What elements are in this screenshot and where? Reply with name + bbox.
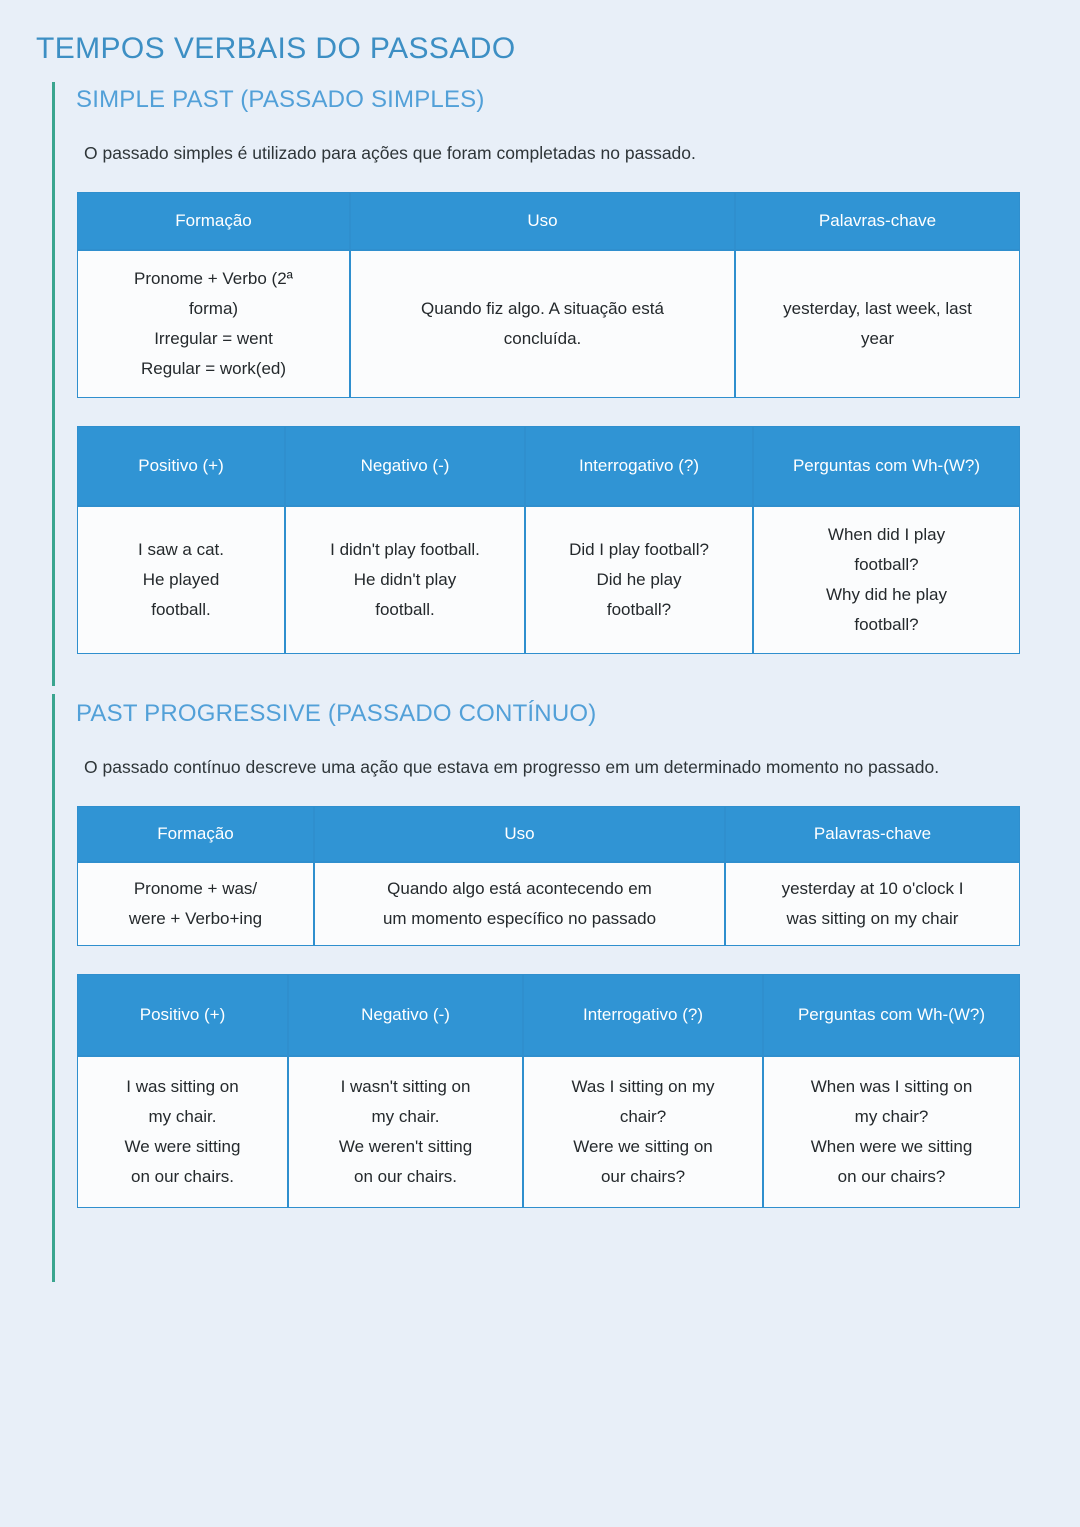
document-page: TEMPOS VERBAIS DO PASSADO SIMPLE PAST (P… <box>0 0 1080 1527</box>
cell-line: We were sitting <box>86 1132 279 1162</box>
cell-line: Pronome + Verbo (2ª <box>86 264 341 294</box>
table-row: I saw a cat. He played football. I didn'… <box>77 506 1020 654</box>
cell-perguntas-wh: When was I sitting on my chair? When wer… <box>763 1056 1020 1208</box>
cell-uso: Quando fiz algo. A situação está concluí… <box>350 250 735 398</box>
cell-line: football? <box>762 610 1011 640</box>
cell-line: were + Verbo+ing <box>86 904 305 934</box>
cell-line: Irregular = went <box>86 324 341 354</box>
column-header-negativo: Negativo (-) <box>285 426 525 506</box>
section-heading-past-progressive: PAST PROGRESSIVE (PASSADO CONTÍNUO) <box>76 700 1044 728</box>
table-header-row: Positivo (+) Negativo (-) Interrogativo … <box>77 426 1020 506</box>
cell-line: I didn't play football. <box>294 535 516 565</box>
cell-positivo: I saw a cat. He played football. <box>77 506 285 654</box>
cell-line: When were we sitting <box>772 1132 1011 1162</box>
column-header-formacao: Formação <box>77 806 314 862</box>
table-header-row: Positivo (+) Negativo (-) Interrogativo … <box>77 974 1020 1056</box>
section-simple-past: SIMPLE PAST (PASSADO SIMPLES) O passado … <box>76 86 1044 654</box>
column-header-uso: Uso <box>350 192 735 250</box>
column-header-formacao: Formação <box>77 192 350 250</box>
cell-line: year <box>744 324 1011 354</box>
cell-line: We weren't sitting <box>297 1132 514 1162</box>
cell-line: my chair? <box>772 1102 1011 1132</box>
cell-line: forma) <box>86 294 341 324</box>
cell-line: I was sitting on <box>86 1072 279 1102</box>
cell-line: on our chairs. <box>297 1162 514 1192</box>
cell-line: concluída. <box>359 324 726 354</box>
table-header-row: Formação Uso Palavras-chave <box>77 192 1020 250</box>
cell-palavras-chave: yesterday at 10 o'clock I was sitting on… <box>725 862 1020 946</box>
cell-line: Did he play <box>534 565 744 595</box>
cell-line: Pronome + was/ <box>86 874 305 904</box>
section-description-past-progressive: O passado contínuo descreve uma ação que… <box>76 750 989 784</box>
column-header-positivo: Positivo (+) <box>77 974 288 1056</box>
column-header-uso: Uso <box>314 806 725 862</box>
section-past-progressive: PAST PROGRESSIVE (PASSADO CONTÍNUO) O pa… <box>76 700 1044 1208</box>
cell-line: chair? <box>532 1102 754 1132</box>
section-description-simple-past: O passado simples é utilizado para ações… <box>76 136 989 170</box>
table-row: I was sitting on my chair. We were sitti… <box>77 1056 1020 1208</box>
cell-line: football? <box>534 595 744 625</box>
section-accent-rail-simple-past <box>52 82 55 686</box>
cell-line: Quando fiz algo. A situação está <box>359 294 726 324</box>
cell-interrogativo: Was I sitting on my chair? Were we sitti… <box>523 1056 763 1208</box>
cell-line: When was I sitting on <box>772 1072 1011 1102</box>
column-header-palavras-chave: Palavras-chave <box>735 192 1020 250</box>
column-header-interrogativo: Interrogativo (?) <box>523 974 763 1056</box>
cell-line: um momento específico no passado <box>323 904 716 934</box>
section-accent-rail-past-progressive <box>52 694 55 1282</box>
cell-line: on our chairs. <box>86 1162 279 1192</box>
cell-negativo: I didn't play football. He didn't play f… <box>285 506 525 654</box>
cell-line: Regular = work(ed) <box>86 354 341 384</box>
column-header-interrogativo: Interrogativo (?) <box>525 426 753 506</box>
column-header-perguntas-wh: Perguntas com Wh-(W?) <box>763 974 1020 1056</box>
column-header-palavras-chave: Palavras-chave <box>725 806 1020 862</box>
cell-formacao: Pronome + Verbo (2ª forma) Irregular = w… <box>77 250 350 398</box>
cell-line: He played <box>86 565 276 595</box>
cell-line: Why did he play <box>762 580 1011 610</box>
table-header-row: Formação Uso Palavras-chave <box>77 806 1020 862</box>
cell-perguntas-wh: When did I play football? Why did he pla… <box>753 506 1020 654</box>
column-header-negativo: Negativo (-) <box>288 974 523 1056</box>
cell-formacao: Pronome + was/ were + Verbo+ing <box>77 862 314 946</box>
cell-line: my chair. <box>297 1102 514 1132</box>
cell-palavras-chave: yesterday, last week, last year <box>735 250 1020 398</box>
cell-line: my chair. <box>86 1102 279 1132</box>
cell-line: Were we sitting on <box>532 1132 754 1162</box>
cell-line: football? <box>762 550 1011 580</box>
cell-line: Did I play football? <box>534 535 744 565</box>
table-row: Pronome + Verbo (2ª forma) Irregular = w… <box>77 250 1020 398</box>
cell-line: football. <box>294 595 516 625</box>
cell-line: our chairs? <box>532 1162 754 1192</box>
cell-uso: Quando algo está acontecendo em um momen… <box>314 862 725 946</box>
table-past-progressive-forms: Positivo (+) Negativo (-) Interrogativo … <box>77 974 1020 1208</box>
cell-line: When did I play <box>762 520 1011 550</box>
cell-positivo: I was sitting on my chair. We were sitti… <box>77 1056 288 1208</box>
cell-line: Quando algo está acontecendo em <box>323 874 716 904</box>
cell-line: He didn't play <box>294 565 516 595</box>
cell-line: yesterday, last week, last <box>744 294 1011 324</box>
cell-line: was sitting on my chair <box>734 904 1011 934</box>
column-header-perguntas-wh: Perguntas com Wh-(W?) <box>753 426 1020 506</box>
table-past-progressive-formation: Formação Uso Palavras-chave Pronome + wa… <box>77 806 1020 946</box>
cell-line: yesterday at 10 o'clock I <box>734 874 1011 904</box>
column-header-positivo: Positivo (+) <box>77 426 285 506</box>
section-heading-simple-past: SIMPLE PAST (PASSADO SIMPLES) <box>76 86 1044 114</box>
cell-line: I wasn't sitting on <box>297 1072 514 1102</box>
cell-interrogativo: Did I play football? Did he play footbal… <box>525 506 753 654</box>
cell-line: Was I sitting on my <box>532 1072 754 1102</box>
table-simple-past-forms: Positivo (+) Negativo (-) Interrogativo … <box>77 426 1020 654</box>
table-row: Pronome + was/ were + Verbo+ing Quando a… <box>77 862 1020 946</box>
table-simple-past-formation: Formação Uso Palavras-chave Pronome + Ve… <box>77 192 1020 398</box>
cell-negativo: I wasn't sitting on my chair. We weren't… <box>288 1056 523 1208</box>
page-title: TEMPOS VERBAIS DO PASSADO <box>36 32 516 66</box>
cell-line: football. <box>86 595 276 625</box>
cell-line: on our chairs? <box>772 1162 1011 1192</box>
cell-line: I saw a cat. <box>86 535 276 565</box>
